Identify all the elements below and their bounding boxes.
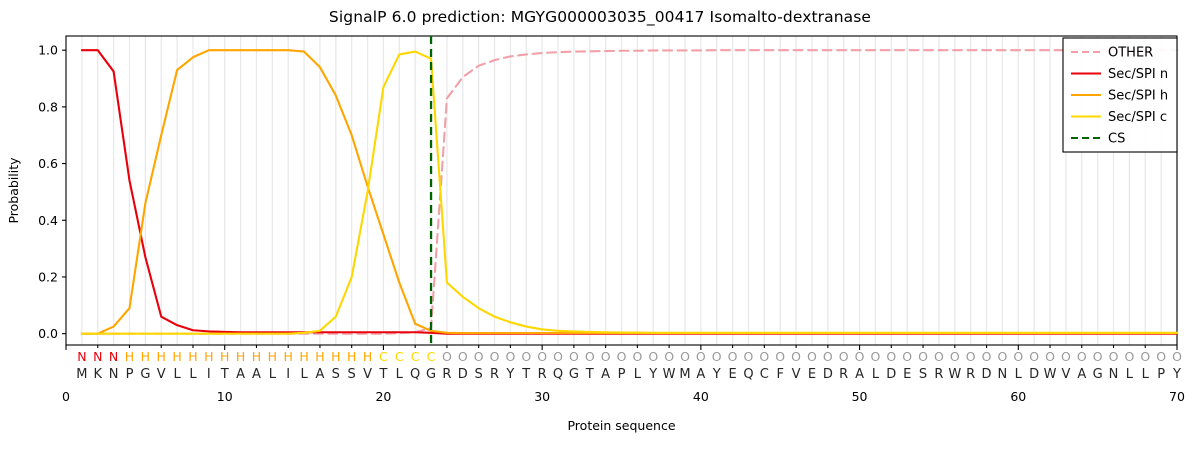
region-letter: H (299, 349, 308, 364)
sequence-letter: W (663, 367, 676, 382)
sequence-letter: T (220, 367, 229, 382)
region-letter: O (918, 349, 928, 364)
region-letter: O (490, 349, 500, 364)
sequence-letter: N (998, 367, 1008, 382)
region-letter: H (188, 349, 197, 364)
sequence-letter: N (109, 367, 119, 382)
sequence-letter: L (269, 367, 277, 382)
region-letter: O (855, 349, 865, 364)
legend-label-sec-spi-c: Sec/SPI c (1108, 110, 1167, 125)
region-letter: O (1140, 349, 1150, 364)
sequence-letter: L (872, 367, 880, 382)
region-letter: H (220, 349, 229, 364)
region-letter: O (1045, 349, 1055, 364)
region-letter: O (839, 349, 849, 364)
x-tick-label: 50 (852, 389, 868, 404)
sequence-letter: L (173, 367, 181, 382)
region-letter: C (411, 349, 420, 364)
x-tick-label: 20 (375, 389, 391, 404)
series-line-sec-spi-h (82, 50, 1177, 333)
region-letter: C (395, 349, 404, 364)
region-letter: O (997, 349, 1007, 364)
region-letter: C (379, 349, 388, 364)
sequence-letter: R (934, 367, 943, 382)
x-tick-label: 0 (62, 389, 70, 404)
sequence-letter: D (982, 367, 992, 382)
region-letter: H (283, 349, 292, 364)
region-letter: O (934, 349, 944, 364)
region-letter: O (648, 349, 658, 364)
sequence-letter: R (538, 367, 547, 382)
sequence-letter: Y (648, 367, 657, 382)
sequence-letter: R (966, 367, 975, 382)
region-letter: O (759, 349, 769, 364)
sequence-letter: D (823, 367, 833, 382)
sequence-letter: V (792, 367, 801, 382)
sequence-letter: E (903, 367, 911, 382)
sequence-letter: F (776, 367, 783, 382)
region-letter: O (1156, 349, 1166, 364)
region-letter: O (902, 349, 912, 364)
region-letter: O (664, 349, 674, 364)
region-letter: O (521, 349, 531, 364)
sequence-letter: D (458, 367, 468, 382)
region-letter: O (712, 349, 722, 364)
sequence-letter: T (378, 367, 387, 382)
sequence-letter: W (1044, 367, 1057, 382)
region-letter: O (1093, 349, 1103, 364)
sequence-letter: T (521, 367, 530, 382)
sequence-track: NMNKNNHPHGHVHLHLHIHTHAHAHLHIHLHAHSHSHVCT… (76, 349, 1182, 382)
region-letter: O (1172, 349, 1182, 364)
sequence-letter: P (126, 367, 134, 382)
region-letter: H (331, 349, 340, 364)
sequence-letter: K (93, 367, 102, 382)
region-letter: O (982, 349, 992, 364)
region-letter: O (1061, 349, 1071, 364)
region-letter: H (157, 349, 166, 364)
x-tick-label: 30 (534, 389, 550, 404)
sequence-letter: R (839, 367, 848, 382)
region-letter: O (744, 349, 754, 364)
sequence-letter: G (426, 367, 436, 382)
sequence-letter: R (442, 367, 451, 382)
x-tick-label: 60 (1010, 389, 1026, 404)
sequence-letter: A (236, 367, 245, 382)
y-tick-label: 0.2 (38, 269, 58, 284)
legend: OTHERSec/SPI nSec/SPI hSec/SPI cCS (1063, 38, 1177, 152)
series-line-sec-spi-n (82, 50, 1177, 333)
sequence-letter: A (601, 367, 610, 382)
sequence-letter: W (948, 367, 961, 382)
region-letter: O (680, 349, 690, 364)
series-line-other (82, 50, 1177, 333)
sequence-letter: L (189, 367, 197, 382)
region-letter: O (569, 349, 579, 364)
sequence-letter: Q (553, 367, 563, 382)
region-letter: O (886, 349, 896, 364)
sequence-letter: C (760, 367, 769, 382)
region-letter: O (1077, 349, 1087, 364)
region-letter: O (807, 349, 817, 364)
region-letter: H (268, 349, 277, 364)
legend-label-cs: CS (1108, 132, 1125, 147)
region-letter: C (427, 349, 436, 364)
legend-label-sec-spi-n: Sec/SPI n (1108, 67, 1168, 82)
plot-canvas: 0.00.20.40.60.81.0Probability01020304050… (0, 0, 1200, 450)
region-letter: H (347, 349, 356, 364)
x-tick-label: 70 (1169, 389, 1185, 404)
sequence-letter: L (1126, 367, 1134, 382)
sequence-letter: L (634, 367, 642, 382)
region-letter: O (601, 349, 611, 364)
sequence-letter: A (315, 367, 324, 382)
region-letter: O (505, 349, 515, 364)
y-tick-label: 1.0 (38, 43, 58, 58)
y-tick-label: 0.6 (38, 156, 58, 171)
region-letter: N (109, 349, 118, 364)
sequence-letter: R (490, 367, 499, 382)
region-letter: O (728, 349, 738, 364)
region-letter: O (1124, 349, 1134, 364)
region-letter: H (125, 349, 134, 364)
sequence-letter: I (207, 367, 211, 382)
signalp-prediction-figure: SignalP 6.0 prediction: MGYG000003035_00… (0, 0, 1200, 450)
series-line-sec-spi-c (82, 52, 1177, 334)
sequence-letter: V (1061, 367, 1070, 382)
region-letter: O (474, 349, 484, 364)
sequence-letter: L (300, 367, 308, 382)
region-letter: O (1013, 349, 1023, 364)
region-letter: O (585, 349, 595, 364)
sequence-letter: S (475, 367, 483, 382)
data-series (82, 50, 1177, 333)
region-letter: O (696, 349, 706, 364)
y-tick-label: 0.0 (38, 326, 58, 341)
sequence-letter: Y (712, 367, 721, 382)
region-letter: H (204, 349, 213, 364)
x-tick-label: 10 (217, 389, 233, 404)
region-letter: O (442, 349, 452, 364)
sequence-letter: I (286, 367, 290, 382)
x-tick-label: 40 (693, 389, 709, 404)
sequence-letter: P (1157, 367, 1165, 382)
sequence-letter: L (396, 367, 404, 382)
sequence-letter: Q (743, 367, 753, 382)
y-tick-label: 0.4 (38, 213, 58, 228)
sequence-letter: V (363, 367, 372, 382)
y-axis-label: Probability (6, 157, 21, 224)
region-letter: H (141, 349, 150, 364)
sequence-letter: Q (410, 367, 420, 382)
sequence-letter: G (1093, 367, 1103, 382)
sequence-letter: A (1077, 367, 1086, 382)
sequence-letter: L (1015, 367, 1023, 382)
region-letter: O (871, 349, 881, 364)
region-letter: O (632, 349, 642, 364)
sequence-letter: G (569, 367, 579, 382)
sequence-letter: D (1029, 367, 1039, 382)
sequence-letter: S (332, 367, 340, 382)
region-letter: O (1029, 349, 1039, 364)
y-tick-label: 0.8 (38, 99, 58, 114)
legend-label-sec-spi-h: Sec/SPI h (1108, 89, 1168, 104)
sequence-letter: A (855, 367, 864, 382)
region-letter: O (966, 349, 976, 364)
region-letter: O (791, 349, 801, 364)
sequence-letter: Y (1172, 367, 1181, 382)
sequence-letter: S (919, 367, 927, 382)
sequence-letter: M (76, 367, 87, 382)
region-letter: N (77, 349, 86, 364)
sequence-letter: A (252, 367, 261, 382)
region-letter: O (775, 349, 785, 364)
region-letter: O (1109, 349, 1119, 364)
legend-label-other: OTHER (1108, 46, 1153, 61)
region-letter: O (823, 349, 833, 364)
sequence-letter: G (140, 367, 150, 382)
grid-lines (82, 36, 1177, 345)
region-letter: O (950, 349, 960, 364)
region-letter: H (236, 349, 245, 364)
sequence-letter: V (157, 367, 166, 382)
sequence-letter: P (618, 367, 626, 382)
sequence-letter: M (679, 367, 690, 382)
region-letter: N (93, 349, 102, 364)
region-letter: H (172, 349, 181, 364)
y-axis: 0.00.20.40.60.81.0 (38, 43, 66, 341)
sequence-letter: D (886, 367, 896, 382)
region-letter: H (252, 349, 261, 364)
sequence-letter: N (1109, 367, 1119, 382)
sequence-letter: S (348, 367, 356, 382)
sequence-letter: E (808, 367, 816, 382)
region-letter: O (617, 349, 627, 364)
sequence-letter: T (585, 367, 594, 382)
region-letter: O (458, 349, 468, 364)
region-letter: H (363, 349, 372, 364)
sequence-letter: E (728, 367, 736, 382)
sequence-letter: L (1142, 367, 1150, 382)
region-letter: H (315, 349, 324, 364)
sequence-letter: A (696, 367, 705, 382)
sequence-letter: Y (505, 367, 514, 382)
x-axis-label: Protein sequence (567, 418, 675, 433)
region-letter: O (553, 349, 563, 364)
region-letter: O (537, 349, 547, 364)
